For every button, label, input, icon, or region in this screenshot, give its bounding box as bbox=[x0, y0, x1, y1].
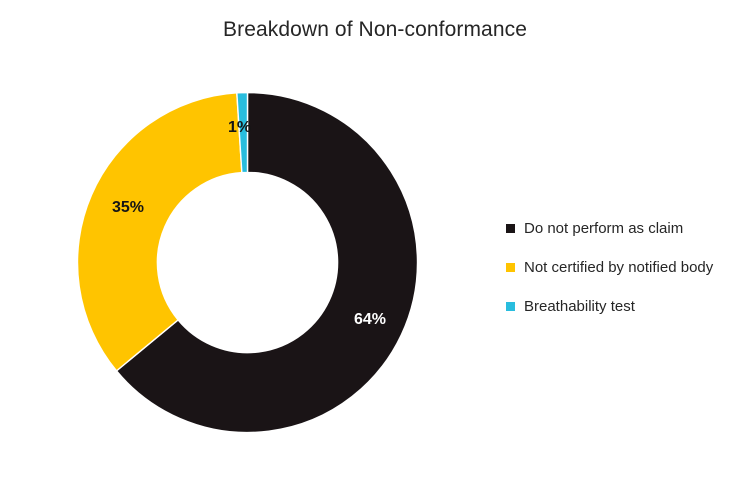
chart-title: Breakdown of Non-conformance bbox=[0, 17, 750, 43]
donut-chart-plot-area: 64% 35% 1% bbox=[60, 75, 435, 453]
legend-swatch-icon-not-certified-by-notified-body bbox=[506, 263, 515, 272]
donut-slice-group bbox=[77, 93, 417, 433]
legend-item-not-certified-by-notified-body[interactable]: Not certified by notified body bbox=[506, 254, 746, 280]
slice-label-breathability-test: 1% bbox=[228, 119, 251, 137]
legend-label-breathability-test: Breathability test bbox=[524, 297, 635, 316]
donut-slice[interactable] bbox=[77, 93, 241, 371]
chart-legend: Do not perform as claim Not certified by… bbox=[506, 215, 746, 332]
slice-label-not-certified-by-notified-body: 35% bbox=[112, 199, 144, 217]
legend-item-do-not-perform-as-claim[interactable]: Do not perform as claim bbox=[506, 215, 746, 241]
legend-label-do-not-perform-as-claim: Do not perform as claim bbox=[524, 219, 683, 238]
slice-label-do-not-perform-as-claim: 64% bbox=[354, 311, 386, 329]
legend-item-breathability-test[interactable]: Breathability test bbox=[506, 293, 746, 319]
legend-swatch-icon-breathability-test bbox=[506, 302, 515, 311]
legend-swatch-icon-do-not-perform-as-claim bbox=[506, 224, 515, 233]
legend-label-not-certified-by-notified-body: Not certified by notified body bbox=[524, 258, 713, 277]
